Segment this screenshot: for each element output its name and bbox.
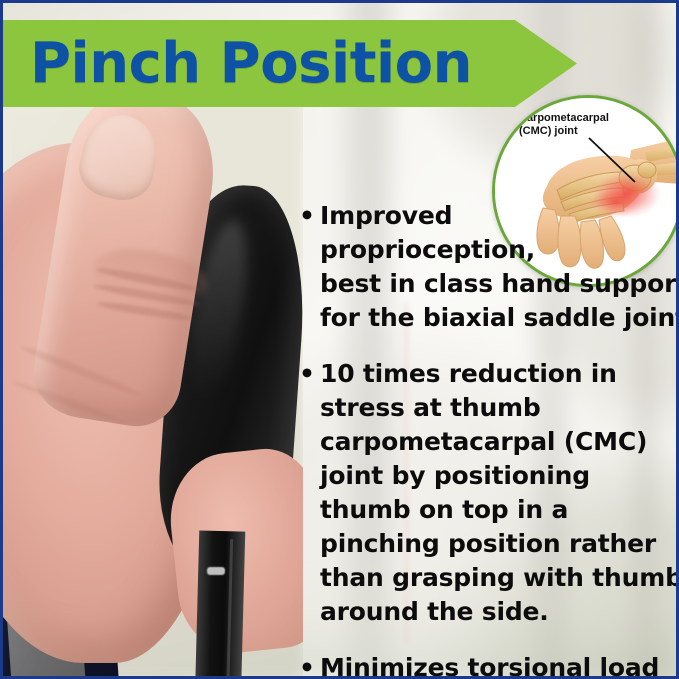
infographic-poster: Pinch Position	[0, 0, 679, 679]
bullet-text: 10 times reduction in	[320, 359, 617, 388]
bullet-line: than grasping with thumb	[299, 561, 675, 595]
cmc-label-line-2: (CMC) joint	[519, 125, 578, 137]
bullet-marker: •	[299, 357, 320, 391]
bullet-marker: •	[299, 651, 320, 679]
bullet-line: •Minimizes torsional load	[299, 651, 675, 679]
bullet-line: •Improved	[299, 199, 675, 233]
bullet-line: around the side.	[299, 595, 675, 629]
bullet-line: pinching position rather	[299, 527, 675, 561]
page-title: Pinch Position	[30, 36, 472, 92]
bullet-line: •10 times reduction in	[299, 357, 675, 391]
bullet-text: Improved	[320, 201, 452, 230]
cane-shaft-clip	[207, 567, 225, 575]
bullet-line: for the biaxial saddle joint	[299, 301, 675, 335]
hand-grip-photo	[0, 99, 303, 679]
cane-shaft-shape	[193, 530, 246, 679]
bullet-item: •Improved proprioception, best in class …	[299, 199, 675, 335]
bullet-line: best in class hand support	[299, 267, 675, 301]
cmc-label-line-1: Carpometacarpal	[519, 112, 609, 124]
bullet-line: proprioception,	[299, 233, 675, 267]
bullet-line: carpometacarpal (CMC)	[299, 425, 675, 459]
bullet-line: joint by positioning	[299, 459, 675, 493]
benefits-list: •Improved proprioception, best in class …	[299, 199, 675, 679]
bullet-marker: •	[299, 199, 320, 233]
bullet-item: •Minimizes torsional load	[299, 651, 675, 679]
title-banner: Pinch Position	[0, 20, 577, 107]
bullet-line: stress at thumb	[299, 391, 675, 425]
cmc-joint-label: Carpometacarpal (CMC) joint	[519, 112, 649, 139]
bullet-line: thumb on top in a	[299, 493, 675, 527]
bullet-text: Minimizes torsional load	[320, 653, 659, 679]
bullet-item: •10 times reduction in stress at thumb c…	[299, 357, 675, 629]
